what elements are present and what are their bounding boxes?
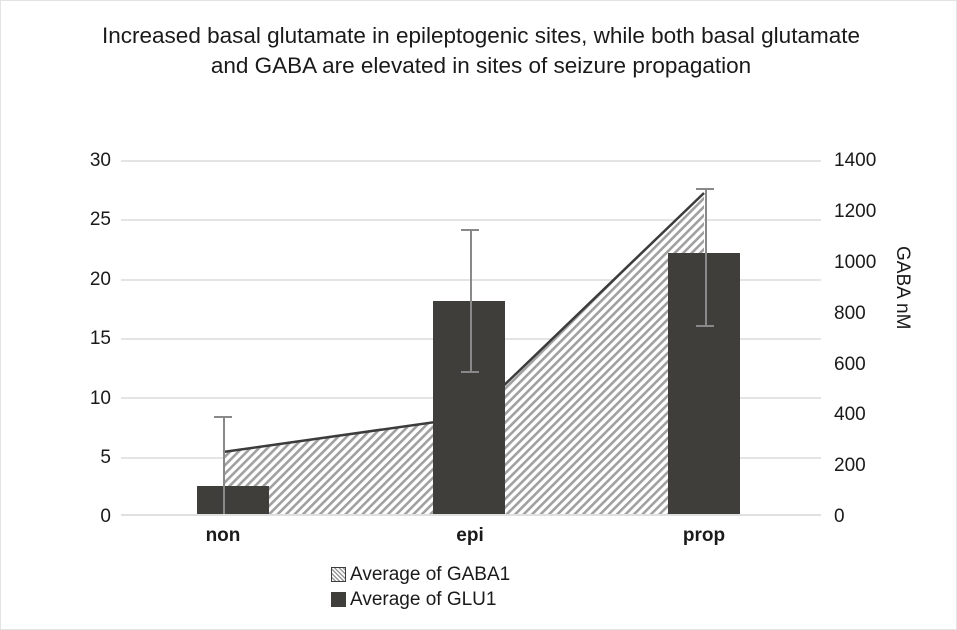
error-bar-non <box>223 416 225 514</box>
x-axis-tick-non: non <box>143 525 303 547</box>
y-axis-right-tick: 800 <box>834 304 904 323</box>
y-axis-right-tick: 400 <box>834 405 904 424</box>
legend-label-gaba: Average of GABA1 <box>350 564 510 586</box>
y-axis-right-tick: 1200 <box>834 202 904 221</box>
legend-item-glu[interactable]: Average of GLU1 <box>331 587 510 612</box>
bar-epi <box>433 301 505 514</box>
legend-item-gaba[interactable]: Average of GABA1 <box>331 562 510 587</box>
error-bar-cap-prop-lower <box>696 325 714 327</box>
legend-swatch-hatched-icon <box>331 567 346 582</box>
x-axis-tick-epi: epi <box>390 525 550 547</box>
legend-swatch-solid-icon <box>331 592 346 607</box>
bar-prop <box>668 253 740 514</box>
y-axis-left-tick: 30 <box>41 151 111 170</box>
y-axis-right-tick: 1000 <box>834 253 904 272</box>
y-axis-left-tick: 0 <box>41 507 111 526</box>
error-bar-cap-epi-lower <box>461 371 479 373</box>
legend: Average of GABA1 Average of GLU1 <box>331 562 510 612</box>
y-axis-left-tick: 20 <box>41 270 111 289</box>
y-axis-left-title: GLU uM <box>0 230 5 301</box>
y-axis-left-tick: 5 <box>41 448 111 467</box>
plot-area <box>121 160 821 516</box>
error-bar-prop <box>705 188 707 326</box>
y-axis-right-tick: 600 <box>834 355 904 374</box>
y-axis-left-tick: 10 <box>41 389 111 408</box>
bar-non <box>197 486 269 514</box>
y-axis-right-tick: 0 <box>834 507 904 526</box>
y-axis-right-tick: 1400 <box>834 151 904 170</box>
page-title: Increased basal glutamate in epileptogen… <box>96 21 866 81</box>
chart-canvas: Increased basal glutamate in epileptogen… <box>0 0 957 630</box>
error-bar-cap-non-upper <box>214 416 232 418</box>
y-axis-right-tick: 200 <box>834 456 904 475</box>
error-bar-epi <box>470 229 472 372</box>
x-axis-tick-prop: prop <box>624 525 784 547</box>
y-axis-left-tick: 15 <box>41 329 111 348</box>
error-bar-cap-epi-upper <box>461 229 479 231</box>
legend-label-glu: Average of GLU1 <box>350 589 496 611</box>
error-bar-cap-prop-upper <box>696 188 714 190</box>
y-axis-left-tick: 25 <box>41 210 111 229</box>
